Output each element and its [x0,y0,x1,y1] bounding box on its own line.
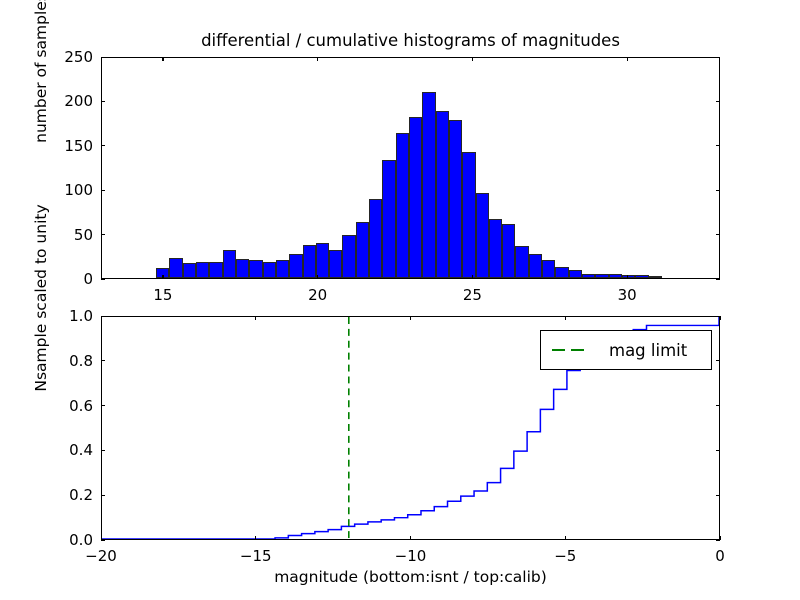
y-tick-label: 0.2 [41,486,93,504]
histogram-bar [303,245,316,278]
x-tick-mark [410,536,411,540]
histogram-bar [555,267,568,278]
histogram-bar [369,199,382,278]
histogram-plot-area [102,58,719,278]
chart-title: differential / cumulative histograms of … [101,31,720,50]
y-tick-mark [716,101,720,102]
x-tick-label: 0 [690,547,750,565]
histogram-bar [223,250,236,278]
y-tick-label: 150 [41,137,93,155]
histogram-bar [409,117,422,278]
x-tick-mark [101,316,102,320]
y-tick-mark [716,279,720,280]
x-tick-mark [162,57,163,61]
x-tick-mark [472,275,473,279]
x-tick-mark [472,57,473,61]
x-tick-mark [410,316,411,320]
x-tick-mark [255,536,256,540]
x-tick-label: −15 [226,547,286,565]
histogram-bar [529,254,542,278]
y-tick-mark [101,450,105,451]
x-tick-mark [720,536,721,540]
histogram-bar [422,92,435,278]
x-tick-label: 25 [442,286,502,304]
legend-entry-label: mag limit [609,341,687,360]
y-tick-mark [716,145,720,146]
y-tick-mark [101,57,105,58]
histogram-bar [396,133,409,278]
histogram-bar [649,276,662,278]
x-tick-mark [720,316,721,320]
histogram-bar [582,274,595,278]
y-tick-mark [101,279,105,280]
x-tick-label: 20 [288,286,348,304]
histogram-bar [515,246,528,278]
x-tick-mark [162,275,163,279]
y-tick-mark [101,405,105,406]
y-tick-mark [101,234,105,235]
histogram-bar [436,111,449,278]
histogram-bar [622,275,635,278]
histogram-bar [595,274,608,278]
histogram-axes [101,57,720,279]
histogram-bar [276,260,289,278]
histogram-bar [502,224,515,278]
y-tick-label: 0.8 [41,352,93,370]
histogram-bar [289,254,302,278]
histogram-bar [236,259,249,278]
y-tick-mark [716,495,720,496]
x-tick-mark [627,275,628,279]
x-tick-mark [101,536,102,540]
y-tick-mark [101,360,105,361]
histogram-bar [249,260,262,278]
histogram-bar [316,243,329,278]
x-tick-mark [565,316,566,320]
histogram-bar [342,235,355,278]
y-tick-mark [101,101,105,102]
x-tick-mark [317,57,318,61]
histogram-bar [263,262,276,278]
histogram-bar [356,222,369,278]
mag-limit-dashed-line-icon [551,343,593,357]
x-tick-mark [627,57,628,61]
y-tick-mark [716,450,720,451]
histogram-bar [542,260,555,278]
histogram-bar [569,270,582,278]
bottom-y-axis-label: Nsample scaled to unity [32,168,50,428]
y-tick-mark [716,405,720,406]
y-tick-label: 0.4 [41,441,93,459]
histogram-bar [489,219,502,278]
x-tick-label: −20 [71,547,131,565]
y-tick-mark [716,190,720,191]
y-tick-label: 200 [41,92,93,110]
y-tick-mark [716,360,720,361]
y-tick-mark [101,190,105,191]
x-tick-label: −10 [381,547,441,565]
figure-canvas: differential / cumulative histograms of … [0,0,800,600]
histogram-bar [382,160,395,278]
histogram-bar [635,275,648,278]
histogram-bar [609,274,622,278]
y-tick-mark [716,57,720,58]
x-tick-label: 15 [133,286,193,304]
x-tick-label: −5 [535,547,595,565]
legend[interactable]: mag limit [540,330,712,370]
histogram-bar [169,258,182,278]
x-tick-mark [317,275,318,279]
histogram-bar [462,152,475,278]
x-tick-mark [255,316,256,320]
bottom-x-axis-label: magnitude (bottom:isnt / top:calib) [101,568,720,586]
x-tick-mark [565,536,566,540]
histogram-bar [449,120,462,278]
y-tick-mark [101,495,105,496]
y-tick-mark [716,234,720,235]
histogram-bar [476,193,489,278]
y-tick-label: 1.0 [41,307,93,325]
histogram-bar [209,262,222,278]
histogram-bar [183,263,196,278]
y-tick-label: 0.6 [41,397,93,415]
x-tick-label: 30 [597,286,657,304]
histogram-bar [196,262,209,278]
y-tick-mark [101,145,105,146]
y-tick-label: 250 [41,48,93,66]
histogram-bar [329,250,342,278]
